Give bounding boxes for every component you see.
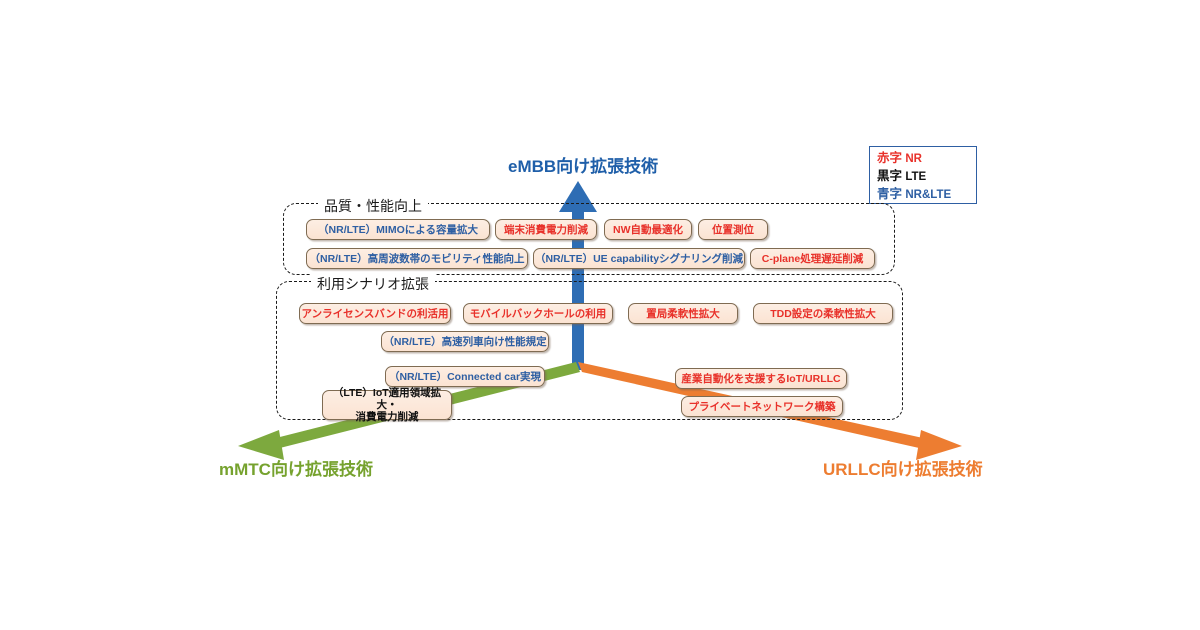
tech-box-mobile-backhaul[interactable]: モバイルバックホールの利用 <box>463 303 613 324</box>
tech-box-industrial-iot-urllc[interactable]: 産業自動化を支援するIoT/URLLC <box>675 368 847 389</box>
tech-box-site-flexibility[interactable]: 置局柔軟性拡大 <box>628 303 738 324</box>
tech-box-positioning[interactable]: 位置測位 <box>698 219 768 240</box>
diagram-canvas: eMBB向け拡張技術 mMTC向け拡張技術 URLLC向け拡張技術 赤字 NR … <box>0 0 1200 630</box>
tech-box-mimo-capacity[interactable]: （NR/LTE）MIMOによる容量拡大 <box>306 219 490 240</box>
axis-label-mmtc: mMTC向け拡張技術 <box>219 455 373 480</box>
tech-box-high-speed-train[interactable]: （NR/LTE）高速列車向け性能規定 <box>381 331 549 352</box>
tech-box-private-network[interactable]: プライベートネットワーク構築 <box>681 396 843 417</box>
legend-lte-en: LTE <box>905 171 926 183</box>
legend-row-lte: 黒字 LTE <box>877 168 976 186</box>
legend-box: 赤字 NR 黒字 LTE 青字 NR&LTE <box>869 146 977 204</box>
tech-box-high-band-mobility[interactable]: （NR/LTE）高周波数帯のモビリティ性能向上 <box>306 248 528 269</box>
tech-box-unlicensed-band[interactable]: アンライセンスバンドの利活用 <box>299 303 451 324</box>
tech-box-lte-iot-coverage-line1: （LTE）IoT適用領域拡大・ <box>329 387 445 411</box>
axis-label-urllc: URLLC向け拡張技術 <box>823 455 983 480</box>
legend-both-jp: 青字 <box>877 187 902 201</box>
axis-label-embb: eMBB向け拡張技術 <box>508 152 658 177</box>
group-title-scenario: 利用シナリオ拡張 <box>311 274 435 294</box>
tech-box-ue-capability-signaling[interactable]: （NR/LTE）UE capabilityシグナリング削減 <box>533 248 745 269</box>
tech-box-lte-iot-coverage-line2: 消費電力削減 <box>356 411 419 423</box>
tech-box-cplane-latency[interactable]: C-plane処理遅延削減 <box>750 248 875 269</box>
tech-box-ue-power-saving[interactable]: 端末消費電力削減 <box>495 219 597 240</box>
tech-box-lte-iot-coverage[interactable]: （LTE）IoT適用領域拡大・ 消費電力削減 <box>322 390 452 420</box>
group-title-quality: 品質・性能向上 <box>318 196 428 216</box>
legend-both-en: NR&LTE <box>905 189 951 201</box>
legend-row-nr-lte: 青字 NR&LTE <box>877 186 976 204</box>
legend-nr-en: NR <box>905 153 922 165</box>
tech-box-nw-auto-optimization[interactable]: NW自動最適化 <box>604 219 692 240</box>
legend-nr-jp: 赤字 <box>877 151 902 165</box>
legend-lte-jp: 黒字 <box>877 169 902 183</box>
legend-row-nr: 赤字 NR <box>877 150 976 168</box>
tech-box-tdd-flexibility[interactable]: TDD設定の柔軟性拡大 <box>753 303 893 324</box>
tech-box-connected-car[interactable]: （NR/LTE）Connected car実現 <box>385 366 545 387</box>
